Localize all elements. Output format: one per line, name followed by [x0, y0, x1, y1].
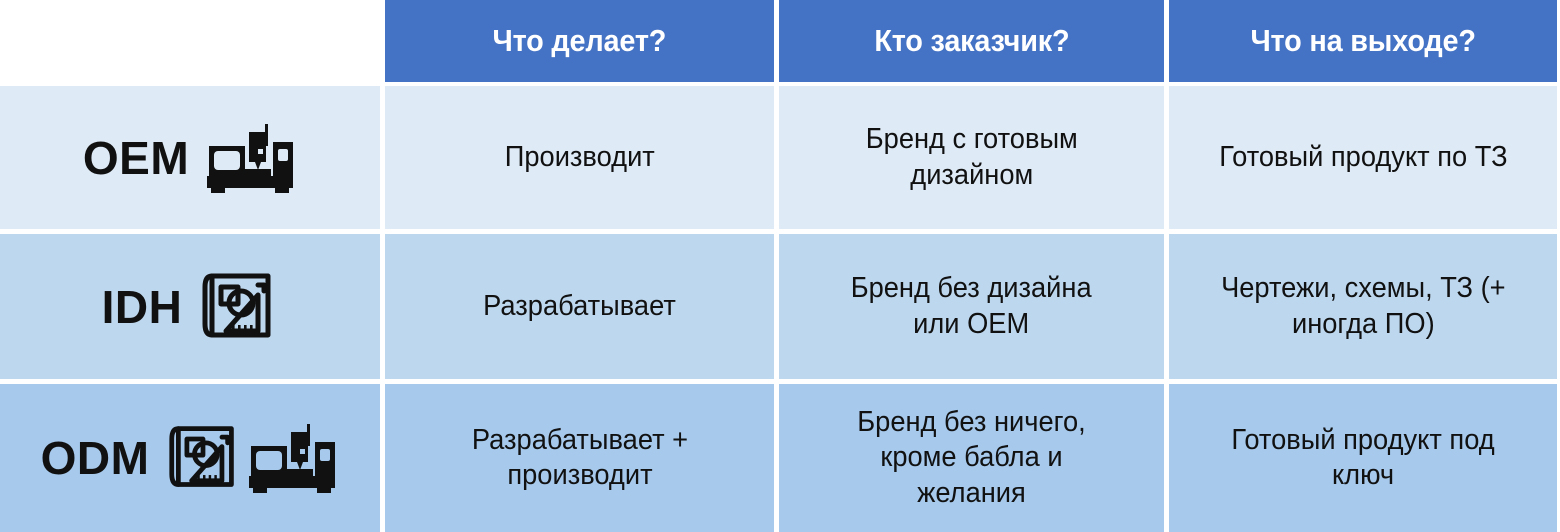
row-icon-group: [198, 269, 278, 345]
cell-what-is-output: Готовый продукт под ключ: [1169, 384, 1557, 532]
row-icon-group: [165, 422, 339, 494]
cell-text: Производит: [504, 140, 654, 175]
cell-text: Бренд без ничего, кроме бабла и желания: [857, 405, 1085, 511]
comparison-table: Что делает? Кто заказчик? Что на выходе?…: [0, 0, 1560, 525]
cell-text: Готовый продукт по ТЗ: [1219, 140, 1507, 175]
table-row: OEM: [0, 86, 1560, 229]
column-header-who-is-customer: Кто заказчик?: [779, 0, 1164, 82]
table-body: OEM: [0, 86, 1560, 525]
column-header-what-is-output: Что на выходе?: [1169, 0, 1557, 82]
cell-text: Чертежи, схемы, ТЗ (+ иногда ПО): [1221, 271, 1506, 342]
blueprint-icon: [165, 422, 241, 494]
cell-text: Бренд без дизайна или OEM: [851, 271, 1092, 342]
cell-who-is-customer: Бренд без дизайна или OEM: [779, 234, 1164, 379]
cell-what-is-output: Готовый продукт по ТЗ: [1169, 86, 1557, 229]
cell-who-is-customer: Бренд без ничего, кроме бабла и желания: [779, 384, 1164, 532]
table-row: ODM: [0, 384, 1560, 532]
row-term-label: IDH: [102, 284, 183, 330]
cell-what-it-does: Разрабатывает + производит: [385, 384, 774, 532]
cell-what-it-does: Разрабатывает: [385, 234, 774, 379]
blueprint-icon: [198, 269, 278, 345]
row-label-cell-idh: IDH: [0, 234, 380, 379]
row-term-label: ODM: [41, 435, 150, 481]
cell-who-is-customer: Бренд с готовым дизайном: [779, 86, 1164, 229]
cnc-machine-icon: [205, 122, 297, 194]
cell-text: Разрабатывает: [483, 289, 676, 324]
cell-what-is-output: Чертежи, схемы, ТЗ (+ иногда ПО): [1169, 234, 1557, 379]
row-icon-group: [205, 122, 297, 194]
cell-what-it-does: Производит: [385, 86, 774, 229]
cell-text: Бренд с готовым дизайном: [865, 122, 1077, 193]
column-header-label: Что на выходе?: [1250, 23, 1475, 59]
cnc-machine-icon: [247, 422, 339, 494]
column-header-label: Что делает?: [493, 23, 667, 59]
cell-text: Готовый продукт под ключ: [1231, 423, 1494, 494]
table-corner-cell: [0, 0, 385, 86]
row-label-cell-odm: ODM: [0, 384, 380, 532]
cell-text: Разрабатывает + производит: [471, 423, 687, 494]
row-term-label: OEM: [83, 135, 189, 181]
table-header-row: Что делает? Кто заказчик? Что на выходе?: [0, 0, 1560, 86]
table-row: IDH: [0, 234, 1560, 379]
column-header-label: Кто заказчик?: [874, 23, 1069, 59]
row-label-cell-oem: OEM: [0, 86, 380, 229]
column-header-what-it-does: Что делает?: [385, 0, 774, 82]
